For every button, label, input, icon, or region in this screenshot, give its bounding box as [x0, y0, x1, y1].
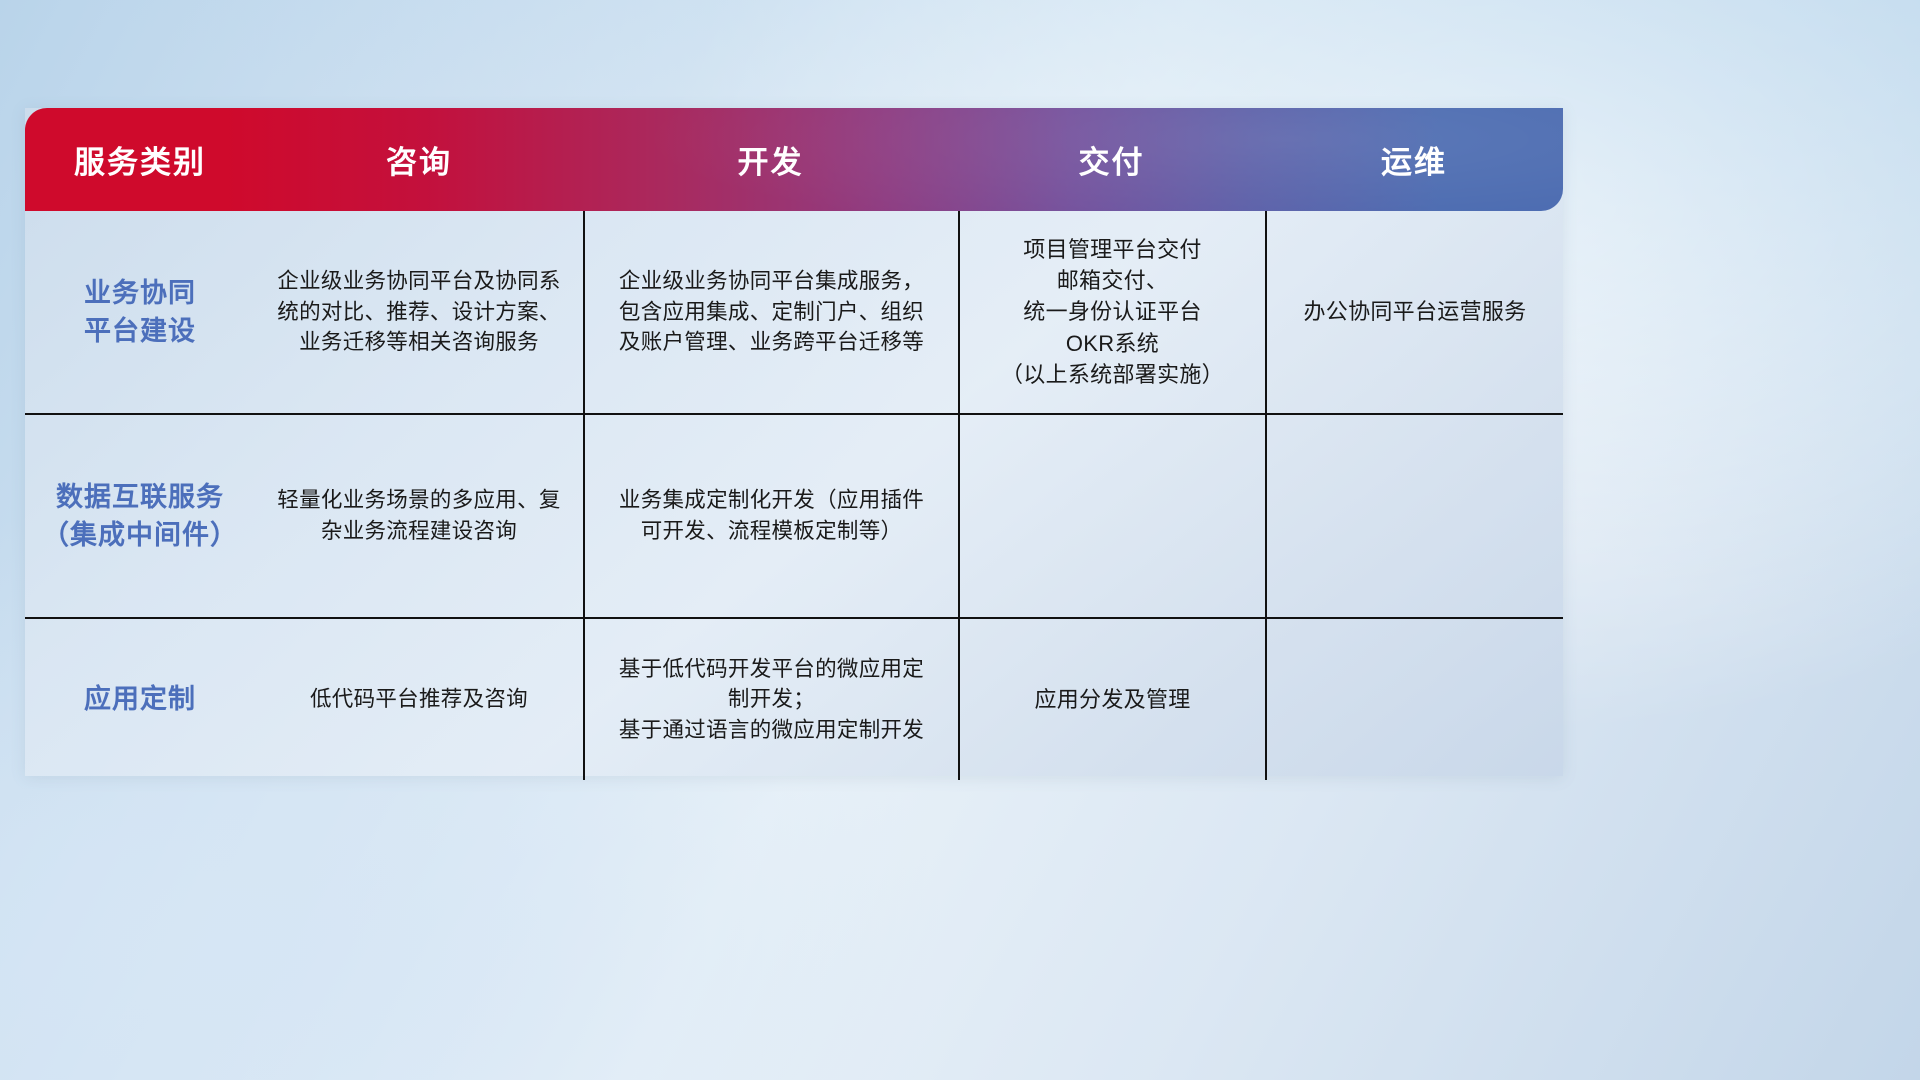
cell-text: 应用分发及管理 — [1034, 684, 1190, 715]
cell-delivery — [958, 415, 1265, 617]
column-header-operations: 运维 — [1265, 137, 1563, 182]
cell-delivery: 应用分发及管理 — [958, 619, 1265, 780]
cell-consulting: 企业级业务协同平台及协同系 统的对比、推荐、设计方案、 业务迁移等相关咨询服务 — [255, 211, 583, 413]
service-matrix-table: 服务类别 咨询 开发 交付 运维 业务协同 平台建设 企业级业务协同平台及协同系… — [25, 108, 1563, 776]
column-header-consulting: 咨询 — [255, 137, 583, 182]
cell-text: 项目管理平台交付 邮箱交付、 统一身份认证平台 OKR系统 （以上系统部署实施） — [1001, 234, 1224, 390]
cell-text: 企业级业务协同平台集成服务， 包含应用集成、定制门户、组织 及账户管理、业务跨平… — [619, 266, 924, 358]
cell-text: 轻量化业务场景的多应用、复 杂业务流程建设咨询 — [277, 485, 560, 546]
cell-operations — [1265, 619, 1563, 780]
cell-text: 办公协同平台运营服务 — [1303, 296, 1526, 327]
column-header-delivery: 交付 — [958, 137, 1265, 182]
cell-development: 业务集成定制化开发（应用插件 可开发、流程模板定制等） — [583, 415, 958, 617]
cell-text: 业务集成定制化开发（应用插件 可开发、流程模板定制等） — [619, 485, 924, 546]
row-label-text: 数据互联服务 （集成中间件） — [42, 478, 238, 555]
cell-operations: 办公协同平台运营服务 — [1265, 211, 1563, 413]
cell-operations — [1265, 415, 1563, 617]
row-label-cell: 应用定制 — [25, 619, 255, 780]
cell-delivery: 项目管理平台交付 邮箱交付、 统一身份认证平台 OKR系统 （以上系统部署实施） — [958, 211, 1265, 413]
page-root: 服务类别 咨询 开发 交付 运维 业务协同 平台建设 企业级业务协同平台及协同系… — [0, 0, 1920, 1080]
row-label-cell: 数据互联服务 （集成中间件） — [25, 415, 255, 617]
cell-development: 企业级业务协同平台集成服务， 包含应用集成、定制门户、组织 及账户管理、业务跨平… — [583, 211, 958, 413]
row-label-text: 业务协同 平台建设 — [84, 274, 196, 351]
cell-text: 基于低代码开发平台的微应用定 制开发； 基于通过语言的微应用定制开发 — [619, 654, 924, 746]
column-header-development: 开发 — [583, 137, 958, 182]
table-row: 业务协同 平台建设 企业级业务协同平台及协同系 统的对比、推荐、设计方案、 业务… — [25, 211, 1563, 413]
table-row: 应用定制 低代码平台推荐及咨询 基于低代码开发平台的微应用定 制开发； 基于通过… — [25, 617, 1563, 780]
row-label-cell: 业务协同 平台建设 — [25, 211, 255, 413]
cell-text: 低代码平台推荐及咨询 — [310, 684, 528, 715]
cell-consulting: 轻量化业务场景的多应用、复 杂业务流程建设咨询 — [255, 415, 583, 617]
table-header-row: 服务类别 咨询 开发 交付 运维 — [25, 108, 1563, 211]
cell-text: 企业级业务协同平台及协同系 统的对比、推荐、设计方案、 业务迁移等相关咨询服务 — [277, 266, 560, 358]
row-label-text: 应用定制 — [84, 680, 196, 718]
cell-consulting: 低代码平台推荐及咨询 — [255, 619, 583, 780]
table-body: 业务协同 平台建设 企业级业务协同平台及协同系 统的对比、推荐、设计方案、 业务… — [25, 211, 1563, 776]
column-header-service-category: 服务类别 — [25, 137, 255, 182]
table-row: 数据互联服务 （集成中间件） 轻量化业务场景的多应用、复 杂业务流程建设咨询 业… — [25, 413, 1563, 617]
cell-development: 基于低代码开发平台的微应用定 制开发； 基于通过语言的微应用定制开发 — [583, 619, 958, 780]
